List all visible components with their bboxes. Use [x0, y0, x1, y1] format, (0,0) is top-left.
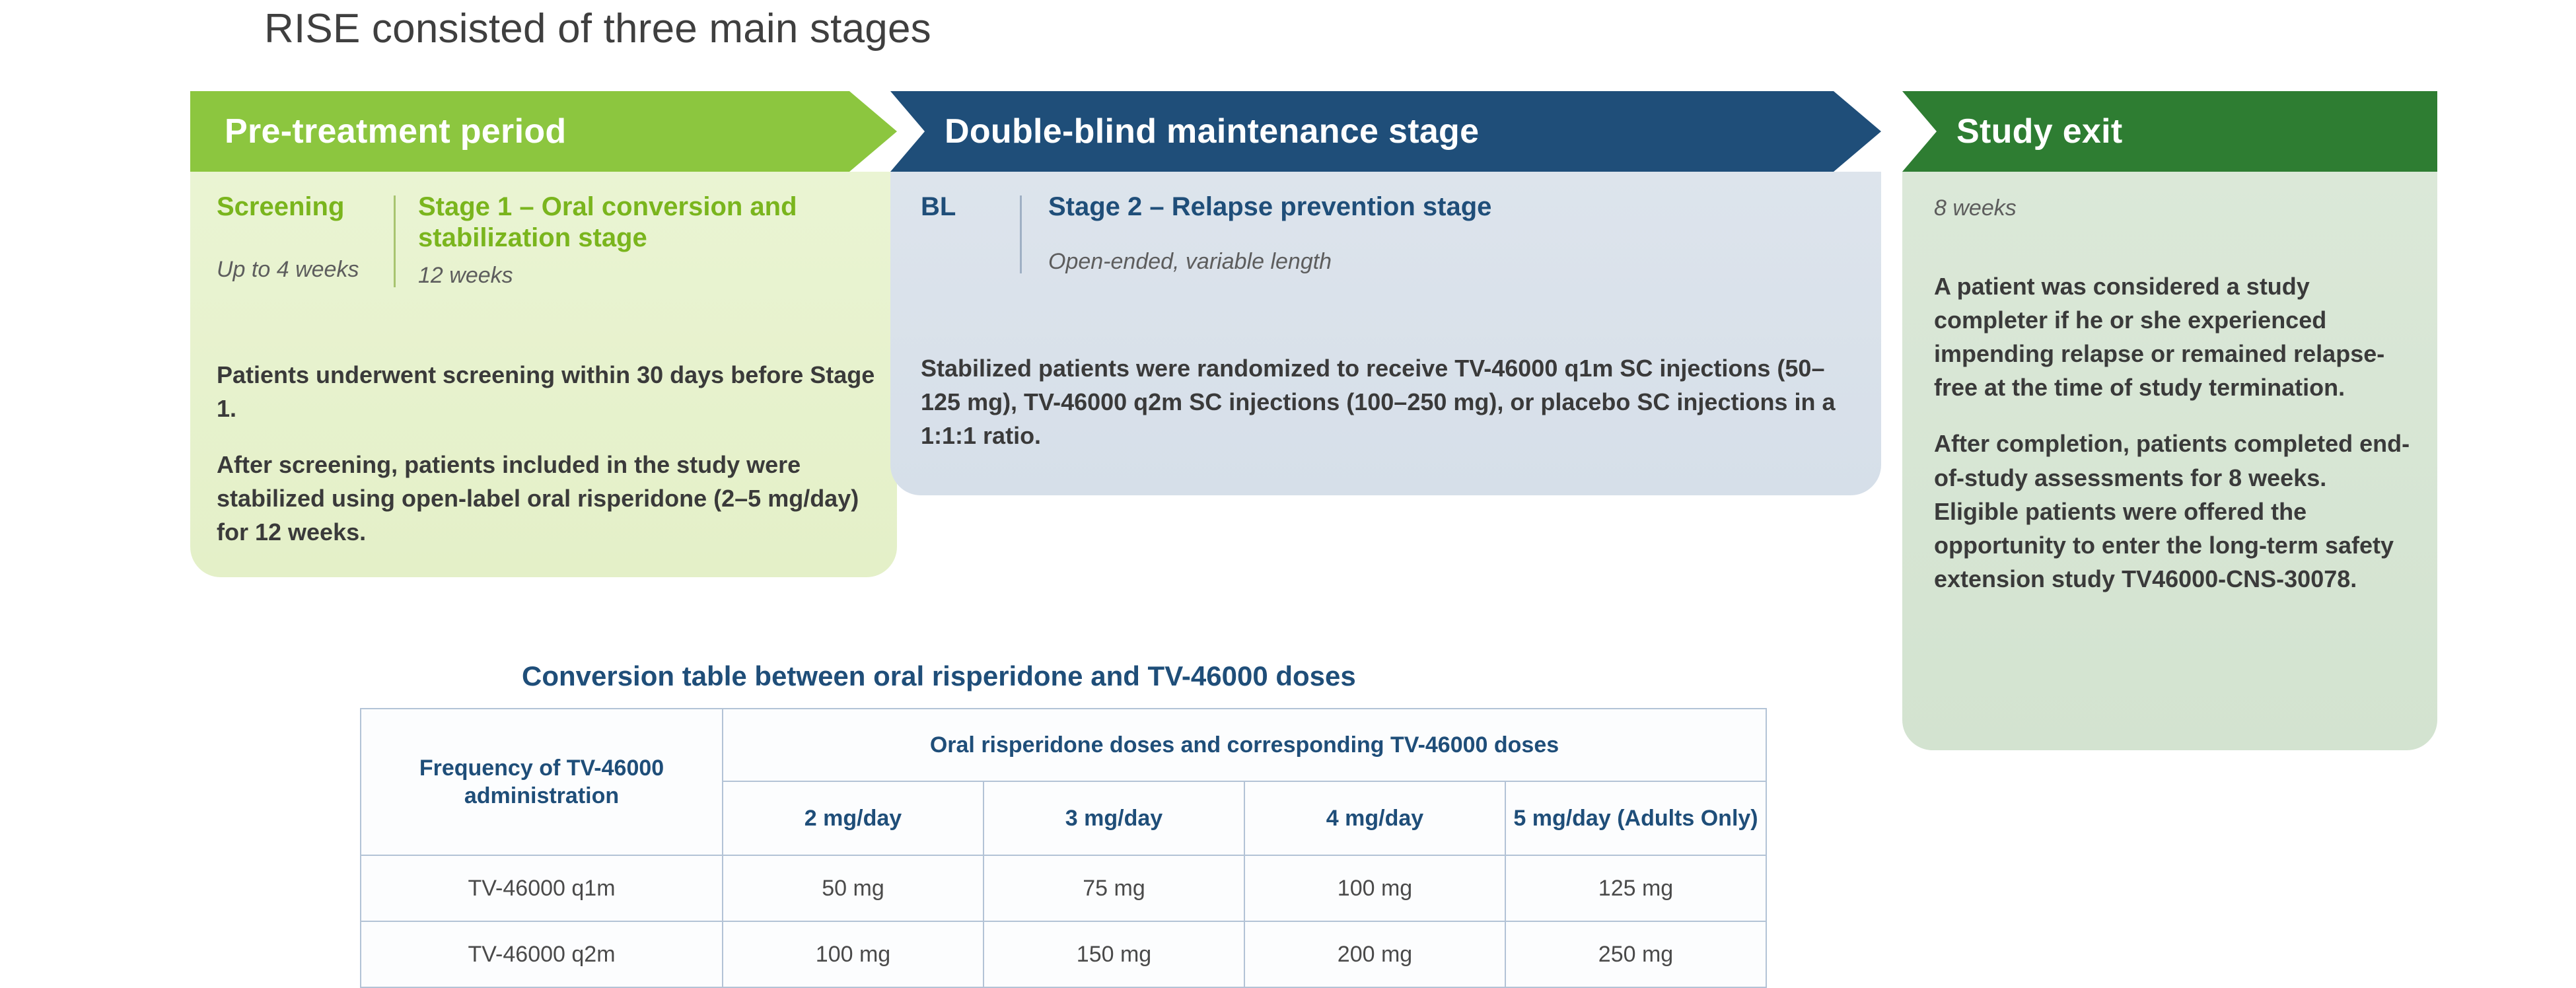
table-header-dose: 3 mg/day [984, 781, 1244, 855]
substage-title: BL [921, 192, 1007, 223]
stage-body-study-exit: A patient was considered a study complet… [1934, 269, 2414, 618]
table-header-dose: 2 mg/day [723, 781, 984, 855]
substage-row-pre-treatment: Screening Up to 4 weeks Stage 1 – Oral c… [217, 192, 871, 289]
substage-stage-2: Stage 2 – Relapse prevention stage Open-… [1022, 192, 1845, 275]
table-cell-dose: 50 mg [723, 855, 984, 921]
table-header-frequency: Frequency of TV-46000 administration [361, 709, 723, 855]
table-cell-dose: 100 mg [723, 921, 984, 987]
stage-body-double-blind: Stabilized patients were randomized to r… [921, 351, 1852, 452]
stage-banner-label: Double-blind maintenance stage [890, 112, 1479, 151]
table-cell-dose: 75 mg [984, 855, 1244, 921]
stage-banner-label: Study exit [1902, 112, 2123, 151]
substage-duration: 12 weeks [418, 263, 871, 289]
substage-row-double-blind: BL Stage 2 – Relapse prevention stage Op… [921, 192, 1845, 275]
table-row: TV-46000 q1m 50 mg 75 mg 100 mg 125 mg [361, 855, 1766, 921]
table-header-dose: 4 mg/day [1244, 781, 1505, 855]
table-cell-dose: 150 mg [984, 921, 1244, 987]
substage-duration: Open-ended, variable length [1048, 249, 1845, 275]
table-cell-dose: 200 mg [1244, 921, 1505, 987]
page-title: RISE consisted of three main stages [264, 5, 931, 52]
stage-paragraph: Patients underwent screening within 30 d… [217, 358, 877, 425]
table-cell-dose: 250 mg [1505, 921, 1766, 987]
substage-stage-1: Stage 1 – Oral conversion and stabilizat… [396, 192, 871, 289]
table-cell-dose: 125 mg [1505, 855, 1766, 921]
conversion-table-title: Conversion table between oral risperidon… [522, 660, 1356, 692]
stage-banner-label: Pre-treatment period [190, 112, 566, 151]
substage-title: Stage 2 – Relapse prevention stage [1048, 192, 1845, 223]
stage-paragraph: After screening, patients included in th… [217, 448, 877, 549]
table-header-dose-group: Oral risperidone doses and corresponding… [723, 709, 1766, 781]
stage-panel-study-exit: 8 weeks A patient was considered a study… [1902, 172, 2437, 750]
substage-title: Screening [217, 192, 375, 223]
stage-paragraph: After completion, patients completed end… [1934, 427, 2414, 596]
stage-banner-pre-treatment: Pre-treatment period [190, 91, 897, 172]
stage-body-pre-treatment: Patients underwent screening within 30 d… [217, 358, 877, 572]
stage-paragraph: Stabilized patients were randomized to r… [921, 351, 1852, 452]
table-header-dose: 5 mg/day (Adults Only) [1505, 781, 1766, 855]
stage-paragraph: A patient was considered a study complet… [1934, 269, 2414, 404]
table-header-row-group: Frequency of TV-46000 administration Ora… [361, 709, 1766, 781]
table-cell-dose: 100 mg [1244, 855, 1505, 921]
substage-duration: 8 weeks [1934, 195, 2017, 221]
table-row: TV-46000 q2m 100 mg 150 mg 200 mg 250 mg [361, 921, 1766, 987]
conversion-table: Frequency of TV-46000 administration Ora… [360, 708, 1767, 988]
substage-screening: Screening Up to 4 weeks [217, 192, 394, 289]
substage-duration: Up to 4 weeks [217, 257, 375, 283]
substage-baseline: BL [921, 192, 1020, 275]
table-cell-row-label: TV-46000 q2m [361, 921, 723, 987]
substage-title: Stage 1 – Oral conversion and stabilizat… [418, 192, 871, 254]
stage-panel-double-blind: BL Stage 2 – Relapse prevention stage Op… [890, 172, 1881, 495]
stage-banner-double-blind: Double-blind maintenance stage [890, 91, 1881, 172]
table-cell-row-label: TV-46000 q1m [361, 855, 723, 921]
stage-panel-pre-treatment: Screening Up to 4 weeks Stage 1 – Oral c… [190, 172, 897, 577]
stage-banner-study-exit: Study exit [1902, 91, 2437, 172]
